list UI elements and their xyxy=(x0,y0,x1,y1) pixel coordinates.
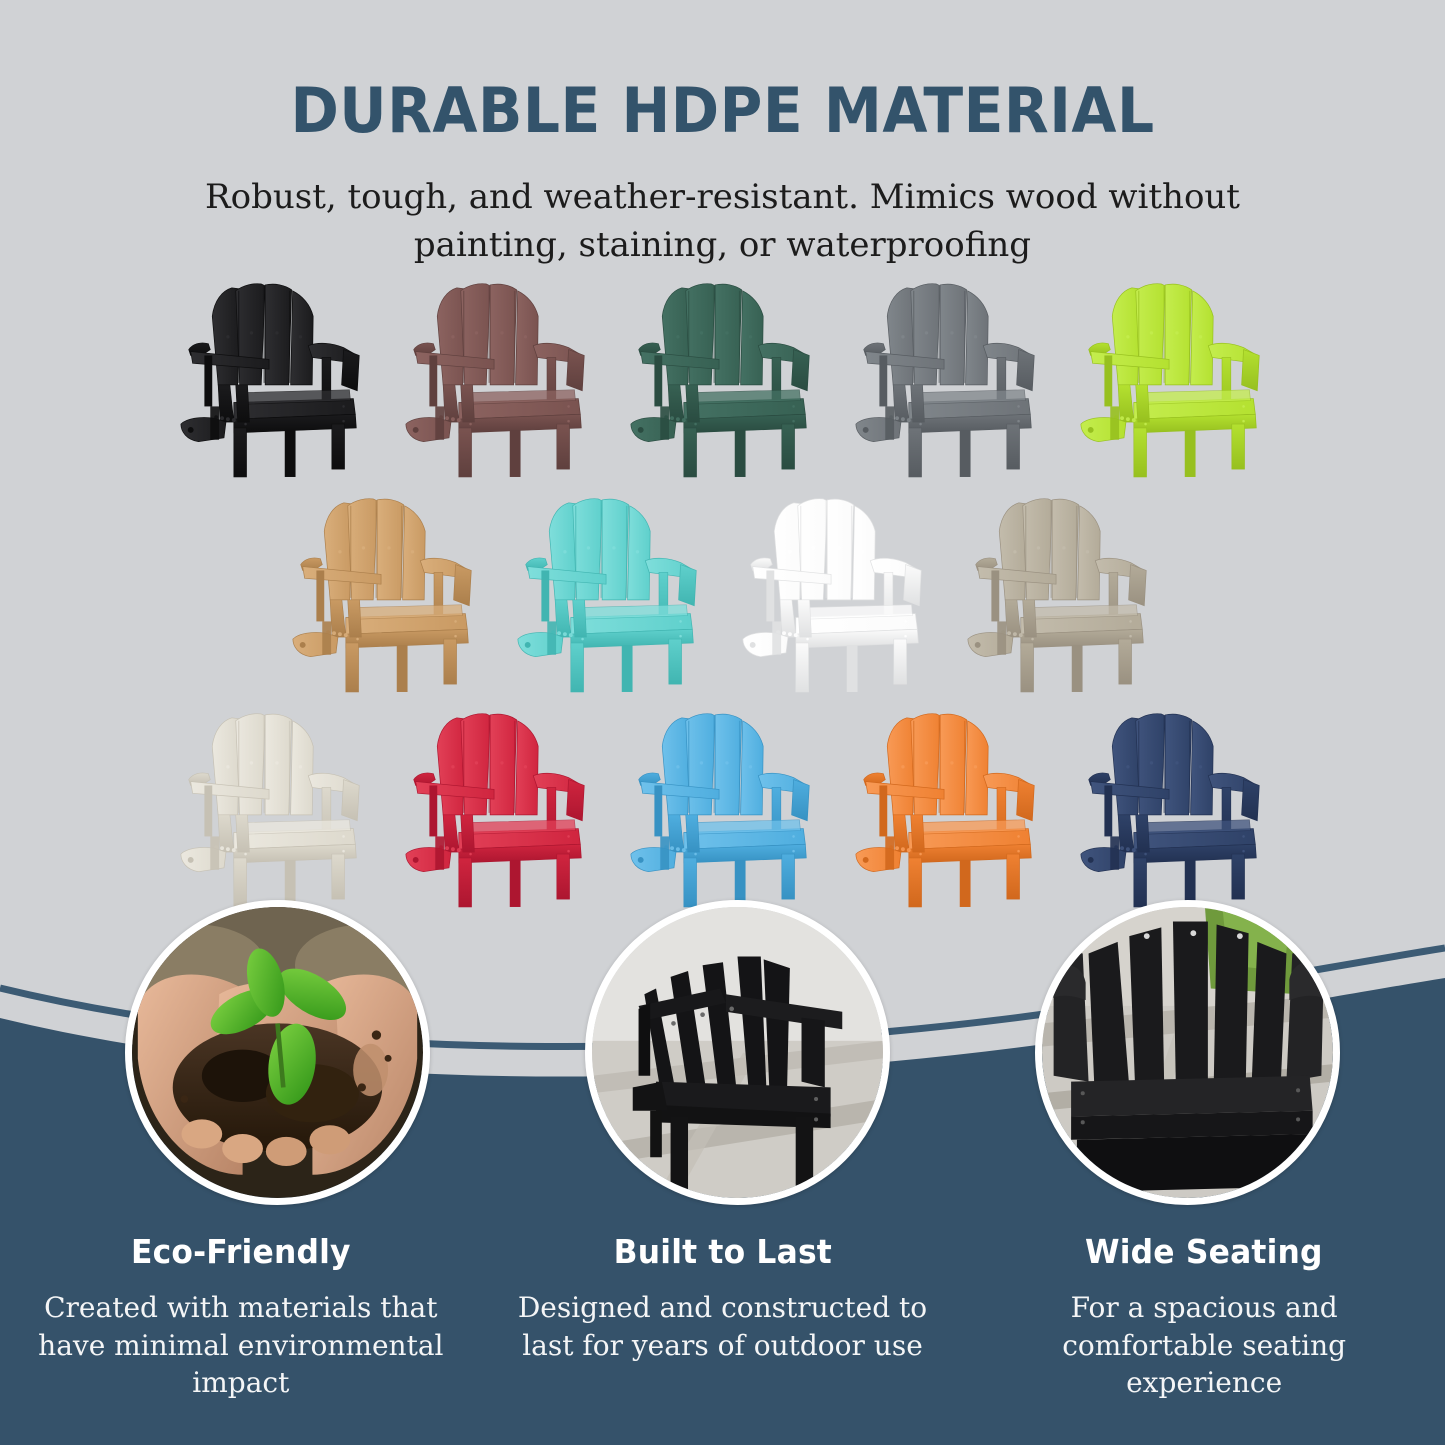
chair-row-1 xyxy=(0,270,1445,485)
adirondack-chair-gray xyxy=(850,275,1046,481)
adirondack-chair-ivory xyxy=(175,705,371,911)
adirondack-chair-lime-green xyxy=(1075,275,1271,481)
feature-built-to-last: Built to Last Designed and constructed t… xyxy=(482,1232,964,1402)
chair-row-3 xyxy=(0,700,1445,915)
chair-swatch-gray[interactable] xyxy=(835,270,1060,485)
chair-swatch-brown[interactable] xyxy=(385,270,610,485)
feature-eco-friendly: Eco-Friendly Created with materials that… xyxy=(0,1232,482,1402)
built-to-last-photo xyxy=(585,900,890,1205)
chair-swatch-red[interactable] xyxy=(385,700,610,915)
chair-swatch-dark-green[interactable] xyxy=(610,270,835,485)
chair-swatch-orange[interactable] xyxy=(835,700,1060,915)
adirondack-chair-dark-green xyxy=(625,275,821,481)
feature-title: Built to Last xyxy=(516,1232,928,1271)
chair-swatch-white[interactable] xyxy=(723,485,948,700)
adirondack-chair-red xyxy=(400,705,596,911)
adirondack-chair-light-blue xyxy=(625,705,821,911)
adirondack-chair-white xyxy=(737,490,933,696)
heading-block: DURABLE HDPE MATERIAL Robust, tough, and… xyxy=(0,78,1445,270)
feature-title: Wide Seating xyxy=(998,1232,1410,1271)
chair-swatch-light-blue[interactable] xyxy=(610,700,835,915)
adirondack-chair-orange xyxy=(850,705,1046,911)
adirondack-chair-brown xyxy=(400,275,596,481)
adirondack-chair-black xyxy=(175,275,371,481)
eco-friendly-photo xyxy=(125,900,430,1205)
adirondack-chair-turquoise xyxy=(512,490,708,696)
chair-row-2 xyxy=(0,485,1445,700)
feature-description: Designed and constructed to last for yea… xyxy=(506,1289,940,1364)
chair-color-grid xyxy=(0,270,1445,915)
adirondack-chair-taupe xyxy=(962,490,1158,696)
feature-title: Eco-Friendly xyxy=(35,1232,447,1271)
page-subtitle: Robust, tough, and weather-resistant. Mi… xyxy=(0,173,1445,270)
wide-seating-photo xyxy=(1035,900,1340,1205)
chair-swatch-black[interactable] xyxy=(160,270,385,485)
adirondack-chair-navy-blue xyxy=(1075,705,1271,911)
adirondack-chair-teak xyxy=(287,490,483,696)
page-title: DURABLE HDPE MATERIAL xyxy=(43,78,1401,143)
feature-wide-seating: Wide Seating For a spacious and comforta… xyxy=(963,1232,1445,1402)
feature-description: Created with materials that have minimal… xyxy=(24,1289,458,1402)
chair-swatch-lime-green[interactable] xyxy=(1060,270,1285,485)
feature-list: Eco-Friendly Created with materials that… xyxy=(0,1232,1445,1402)
chair-swatch-teak[interactable] xyxy=(273,485,498,700)
feature-description: For a spacious and comfortable seating e… xyxy=(987,1289,1421,1402)
chair-swatch-taupe[interactable] xyxy=(948,485,1173,700)
chair-swatch-ivory[interactable] xyxy=(160,700,385,915)
chair-swatch-turquoise[interactable] xyxy=(498,485,723,700)
chair-swatch-navy-blue[interactable] xyxy=(1060,700,1285,915)
